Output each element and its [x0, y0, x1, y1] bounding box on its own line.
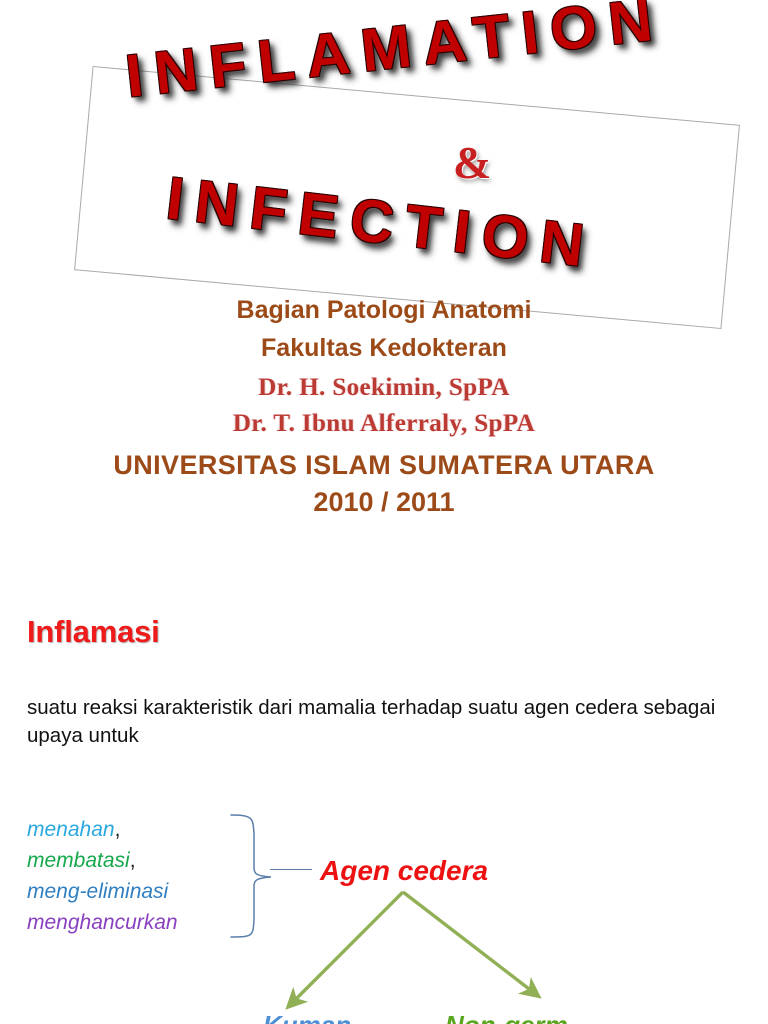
verb-comma-1: , [130, 849, 136, 872]
subtitle-academic-year: 2010 / 2011 [0, 487, 768, 518]
verb-comma-0: , [115, 818, 121, 841]
list-item: meng-eliminasi [27, 876, 178, 907]
subtitle-university: UNIVERSITAS ISLAM SUMATERA UTARA [0, 450, 768, 481]
verb-label-1: membatasi [27, 849, 130, 872]
subtitle-doctor-1: Dr. H. Soekimin, SpPA [0, 374, 768, 402]
section-heading-inflamasi: Inflamasi [27, 614, 160, 650]
slide-canvas: INFLAMATION & INFECTION Bagian Patologi … [0, 0, 768, 1024]
verb-label-0: menahan [27, 818, 115, 841]
definition-paragraph: suatu reaksi karakteristik dari mamalia … [27, 694, 717, 750]
list-item: membatasi, [27, 845, 178, 876]
subtitle-doctor-2: Dr. T. Ibnu Alferraly, SpPA [0, 410, 768, 438]
list-item: menahan, [27, 814, 178, 845]
subtitle-department: Bagian Patologi Anatomi [0, 296, 768, 325]
doctor-2-name: Dr. T. Ibnu Alferraly, SpPA [233, 410, 535, 438]
title-ampersand: & [453, 136, 491, 189]
bottom-label-right: Non-germ [445, 1014, 568, 1024]
verb-list: menahan, membatasi, meng-eliminasi mengh… [27, 814, 178, 938]
list-item: menghancurkan [27, 907, 178, 938]
branching-arrows-icon [250, 880, 610, 1024]
bottom-cut-off-labels: Kuman Non-germ [0, 1014, 768, 1024]
brace-connector-line [270, 869, 312, 870]
doctor-1-name: Dr. H. Soekimin, SpPA [258, 374, 510, 402]
verb-label-2: meng-eliminasi [27, 880, 168, 903]
bottom-label-left: Kuman [263, 1014, 351, 1024]
subtitle-faculty: Fakultas Kedokteran [0, 334, 768, 363]
verb-label-3: menghancurkan [27, 911, 178, 934]
